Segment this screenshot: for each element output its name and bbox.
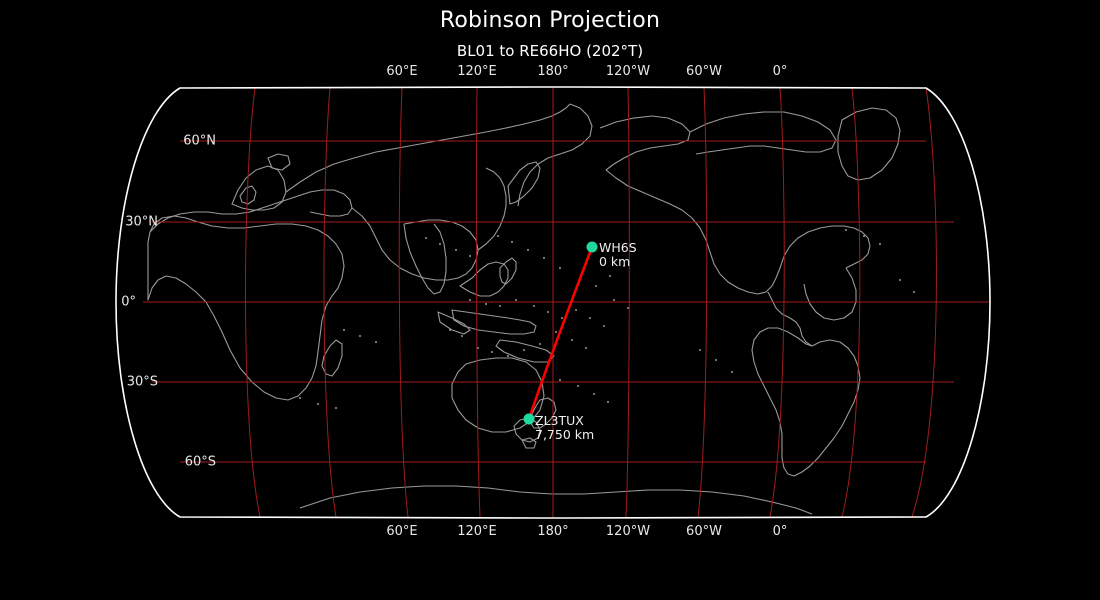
lon-tick-bottom-1: 120°E — [457, 524, 497, 539]
destination-callsign-label: ZL3TUX — [535, 413, 584, 428]
lon-tick-top-4: 60°W — [686, 64, 722, 79]
lat-tick-0: 60°N — [118, 134, 216, 149]
origin-callsign-label: WH6S — [599, 240, 637, 255]
lon-tick-top-2: 180° — [537, 64, 568, 79]
world-map-canvas — [0, 0, 1100, 600]
lon-tick-bottom-4: 60°W — [686, 524, 722, 539]
lat-tick-3: 30°S — [60, 375, 158, 390]
lon-tick-bottom-2: 180° — [537, 524, 568, 539]
map-figure: Robinson Projection BL01 to RE66HO (202°… — [0, 0, 1100, 600]
lon-tick-bottom-3: 120°W — [606, 524, 650, 539]
lon-tick-top-5: 0° — [773, 64, 788, 79]
marker-origin[interactable] — [587, 242, 598, 253]
destination-distance-label: 7,750 km — [535, 427, 594, 442]
lat-tick-4: 60°S — [118, 455, 216, 470]
lon-tick-bottom-0: 60°E — [386, 524, 417, 539]
lon-tick-top-3: 120°W — [606, 64, 650, 79]
lat-tick-2: 0° — [38, 295, 136, 310]
origin-distance-label: 0 km — [599, 254, 630, 269]
lon-tick-bottom-5: 0° — [773, 524, 788, 539]
marker-destination[interactable] — [524, 414, 535, 425]
lat-tick-1: 30°N — [60, 215, 158, 230]
lon-tick-top-0: 60°E — [386, 64, 417, 79]
lon-tick-top-1: 120°E — [457, 64, 497, 79]
